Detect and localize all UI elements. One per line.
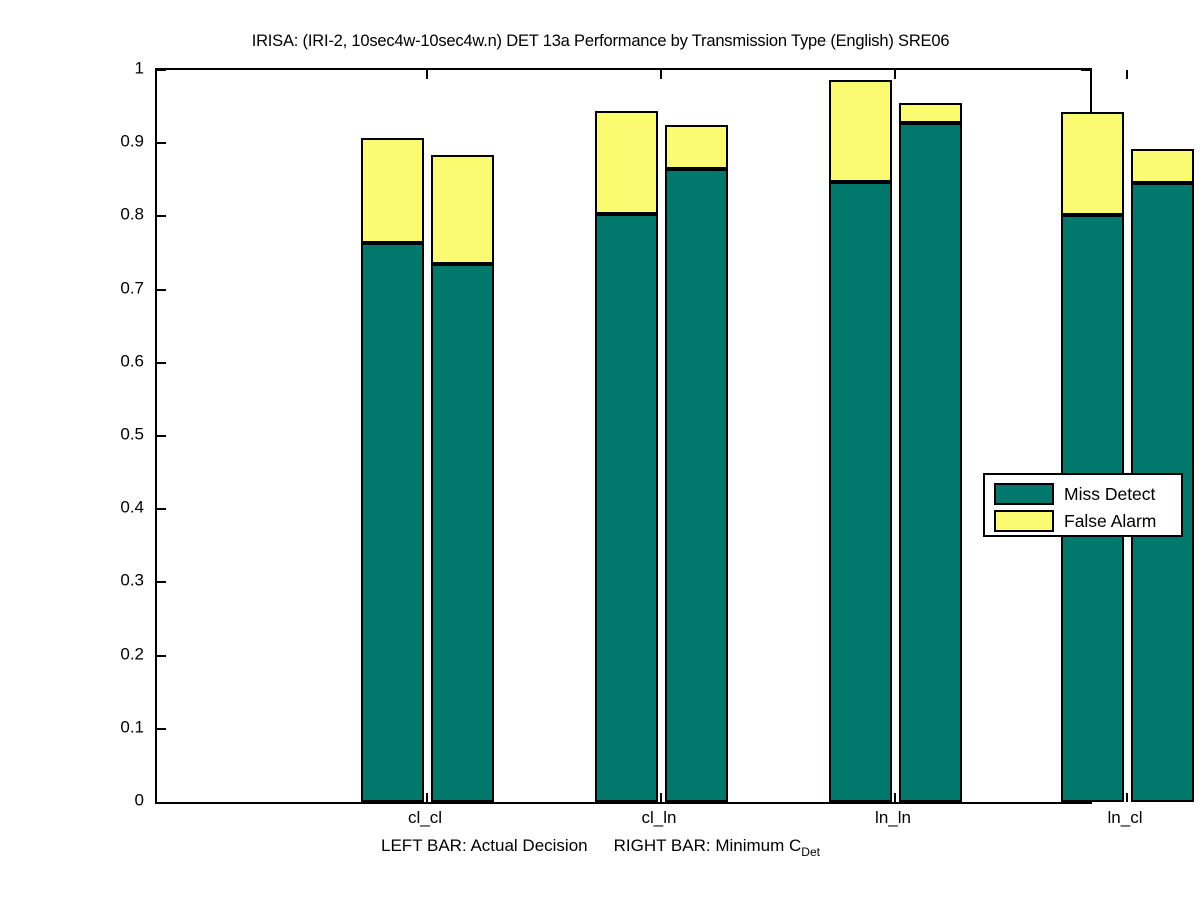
chart-caption: LEFT BAR: Actual DecisionRIGHT BAR: Mini… (0, 836, 1201, 856)
y-tick-label: 1 (135, 60, 144, 77)
y-tick-label: 0.9 (120, 133, 144, 150)
legend-entry-miss-detect: Miss Detect (994, 481, 1155, 507)
y-tick-label: 0.1 (120, 718, 144, 735)
legend-swatch-miss-detect (994, 483, 1054, 505)
bar-cl_cl-actual-decision[interactable] (361, 70, 424, 802)
y-tick-mark (157, 728, 166, 730)
bar-segment-false-alarm[interactable] (829, 80, 892, 182)
bar-segment-miss-detect[interactable] (899, 123, 962, 802)
x-tick-mark-top (426, 70, 428, 79)
bar-ln_ln-minimum-cdet[interactable] (899, 70, 962, 802)
plot-area: Miss Detect False Alarm (155, 68, 1092, 804)
legend-entry-false-alarm: False Alarm (994, 508, 1156, 534)
bar-cl_cl-minimum-cdet[interactable] (431, 70, 494, 802)
y-tick-mark (157, 508, 166, 510)
legend-label-miss-detect: Miss Detect (1064, 484, 1155, 505)
x-tick-label-ln_cl: ln_cl (1108, 808, 1143, 828)
x-tick-mark-top (894, 70, 896, 79)
bar-segment-false-alarm[interactable] (1131, 149, 1194, 183)
bar-segment-miss-detect[interactable] (829, 182, 892, 802)
x-tick-mark-top (660, 70, 662, 79)
y-tick-label: 0.8 (120, 206, 144, 223)
bar-cl_ln-minimum-cdet[interactable] (665, 70, 728, 802)
bar-segment-false-alarm[interactable] (899, 103, 962, 123)
y-tick-label: 0.3 (120, 572, 144, 589)
y-tick-label: 0.4 (120, 499, 144, 516)
x-tick-label-cl_ln: cl_ln (642, 808, 677, 828)
bar-segment-miss-detect[interactable] (361, 243, 424, 802)
y-tick-mark (157, 215, 166, 217)
x-tick-mark (894, 793, 896, 802)
x-tick-mark (660, 793, 662, 802)
bar-segment-false-alarm[interactable] (595, 111, 658, 214)
bar-ln_cl-actual-decision[interactable] (1061, 70, 1124, 802)
plot-inner (157, 70, 1090, 802)
y-tick-label: 0.5 (120, 426, 144, 443)
y-tick-mark (157, 362, 166, 364)
bar-segment-miss-detect[interactable] (595, 214, 658, 802)
x-tick-mark (426, 793, 428, 802)
bar-segment-miss-detect[interactable] (665, 169, 728, 802)
y-tick-mark (157, 435, 166, 437)
bar-cl_ln-actual-decision[interactable] (595, 70, 658, 802)
caption-right-bar: RIGHT BAR: Minimum C (614, 836, 802, 855)
y-tick-mark (157, 655, 166, 657)
bar-ln_ln-actual-decision[interactable] (829, 70, 892, 802)
y-tick-label: 0.6 (120, 352, 144, 369)
y-tick-mark (157, 289, 166, 291)
x-tick-label-ln_ln: ln_ln (875, 808, 911, 828)
bar-segment-false-alarm[interactable] (1061, 112, 1124, 215)
legend-label-false-alarm: False Alarm (1064, 511, 1156, 532)
y-tick-label: 0.2 (120, 645, 144, 662)
bar-segment-false-alarm[interactable] (431, 155, 494, 264)
x-tick-mark-top (1126, 70, 1128, 79)
legend-swatch-false-alarm (994, 510, 1054, 532)
chart-legend[interactable]: Miss Detect False Alarm (983, 473, 1183, 537)
y-tick-mark (157, 69, 166, 71)
x-tick-label-cl_cl: cl_cl (408, 808, 442, 828)
bar-segment-false-alarm[interactable] (361, 138, 424, 243)
bar-segment-miss-detect[interactable] (431, 264, 494, 802)
y-tick-label: 0.7 (120, 279, 144, 296)
caption-right-bar-subscript: Det (801, 845, 820, 859)
y-tick-mark (157, 581, 166, 583)
chart-figure: IRISA: (IRI-2, 10sec4w-10sec4w.n) DET 13… (0, 0, 1201, 900)
bar-segment-false-alarm[interactable] (665, 125, 728, 169)
chart-title: IRISA: (IRI-2, 10sec4w-10sec4w.n) DET 13… (0, 32, 1201, 51)
y-tick-mark (157, 142, 166, 144)
y-tick-label: 0 (135, 792, 144, 809)
bar-ln_cl-minimum-cdet[interactable] (1131, 70, 1194, 802)
caption-left-bar: LEFT BAR: Actual Decision (381, 836, 588, 855)
x-tick-mark (1126, 793, 1128, 802)
